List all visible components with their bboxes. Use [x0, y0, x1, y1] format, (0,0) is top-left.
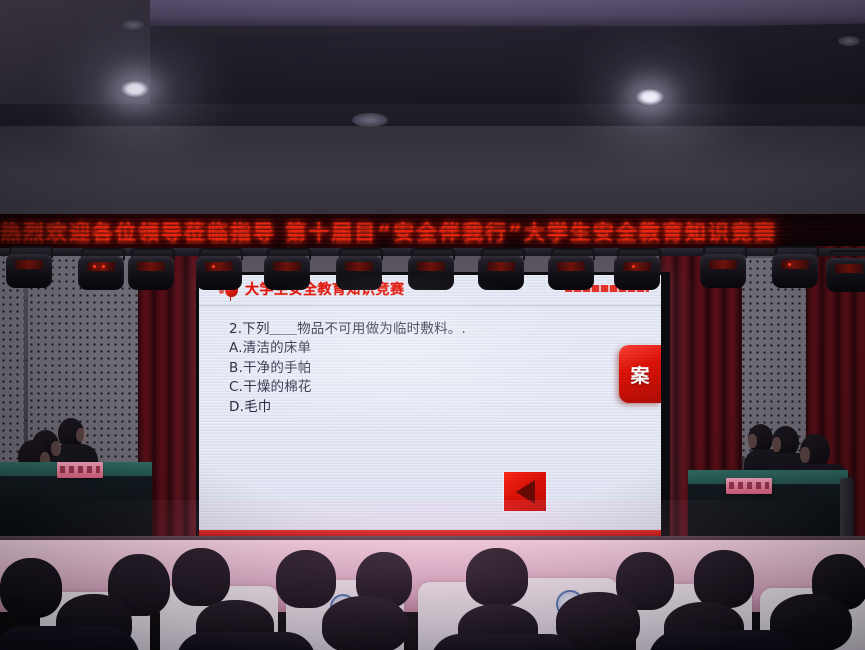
- person-face: [800, 447, 810, 463]
- audience-shoulders: [648, 630, 798, 650]
- audience-head: [0, 558, 62, 618]
- auditorium-photo: 热烈欢迎各位领导莅临指导 第十届目“安全伴我行”大学生安全教育知识竞赛 大学生安…: [0, 0, 865, 650]
- led-dim-overlay: [0, 214, 865, 250]
- slide-body: 2.下列＿＿物品不可用做为临时敷料。. A.清洁的床单 B.干净的手帕 C.干燥…: [199, 306, 661, 417]
- audience-head: [466, 548, 528, 606]
- par-lens: [781, 260, 809, 269]
- par-lens: [557, 262, 585, 271]
- par-light: [78, 254, 124, 294]
- downlight-icon: [352, 113, 388, 127]
- option-b: B.干净的手帕: [229, 359, 661, 379]
- par-led-icon: [788, 263, 791, 266]
- par-lens: [205, 262, 233, 271]
- triangle-left-icon: [516, 480, 535, 504]
- par-lens: [15, 260, 43, 269]
- par-lens: [417, 262, 445, 271]
- par-light: [700, 252, 746, 292]
- ceiling-beam: [150, 19, 865, 111]
- audience-shoulders: [430, 634, 580, 650]
- par-light: [614, 254, 660, 294]
- projection-screen: 大学生安全教育知识竞赛 2.下列＿＿物品不可用做为临时敷料。. A.清洁的床单 …: [196, 272, 670, 546]
- person-face: [748, 434, 757, 448]
- person-face: [76, 428, 86, 442]
- question-text: 2.下列＿＿物品不可用做为临时敷料。.: [229, 320, 661, 339]
- par-lens: [137, 262, 165, 271]
- par-led-icon: [102, 265, 105, 268]
- par-lens: [709, 260, 737, 269]
- par-light: [128, 254, 174, 294]
- option-a: A.清洁的床单: [229, 339, 661, 359]
- downlight-icon: [635, 88, 665, 106]
- person-face: [772, 437, 781, 452]
- show-answer-label: 案: [630, 361, 649, 388]
- downlight-icon: [120, 80, 150, 98]
- par-led-icon: [632, 265, 635, 268]
- person-face: [51, 441, 61, 456]
- par-lens: [835, 264, 863, 273]
- par-light: [336, 254, 382, 294]
- par-led-icon: [212, 265, 215, 268]
- audience-head: [322, 596, 408, 650]
- option-d: D.毛巾: [229, 398, 661, 418]
- par-lens: [345, 262, 373, 271]
- par-light: [548, 254, 594, 294]
- previous-slide-button[interactable]: [503, 471, 547, 512]
- name-placard: [57, 462, 103, 478]
- ceiling-panel-left: [0, 0, 150, 120]
- par-lens: [273, 262, 301, 271]
- placard-text-glyph: [729, 482, 769, 489]
- slide-surface: 大学生安全教育知识竞赛 2.下列＿＿物品不可用做为临时敷料。. A.清洁的床单 …: [199, 275, 661, 537]
- audience-head: [172, 548, 230, 606]
- par-lens: [487, 262, 515, 271]
- option-c: C.干燥的棉花: [229, 378, 661, 398]
- downlight-icon: [838, 36, 860, 46]
- par-light: [772, 252, 818, 292]
- name-placard: [726, 478, 772, 494]
- par-lens: [623, 262, 651, 271]
- par-light: [6, 252, 52, 292]
- par-light: [196, 254, 242, 294]
- downlight-icon: [122, 20, 144, 30]
- show-answer-button[interactable]: 案: [619, 345, 661, 403]
- par-led-icon: [93, 265, 96, 268]
- par-light: [478, 254, 524, 294]
- ceiling-cove-light: [120, 0, 865, 26]
- audience-head: [694, 550, 754, 608]
- placard-text-glyph: [60, 466, 100, 473]
- par-light: [264, 254, 310, 294]
- audience-shoulders: [176, 632, 316, 650]
- audience-shoulders: [0, 626, 140, 650]
- par-lens: [87, 262, 115, 271]
- audience-head: [276, 550, 336, 608]
- audience-area: [0, 548, 865, 650]
- par-light: [408, 254, 454, 294]
- par-light: [826, 256, 865, 296]
